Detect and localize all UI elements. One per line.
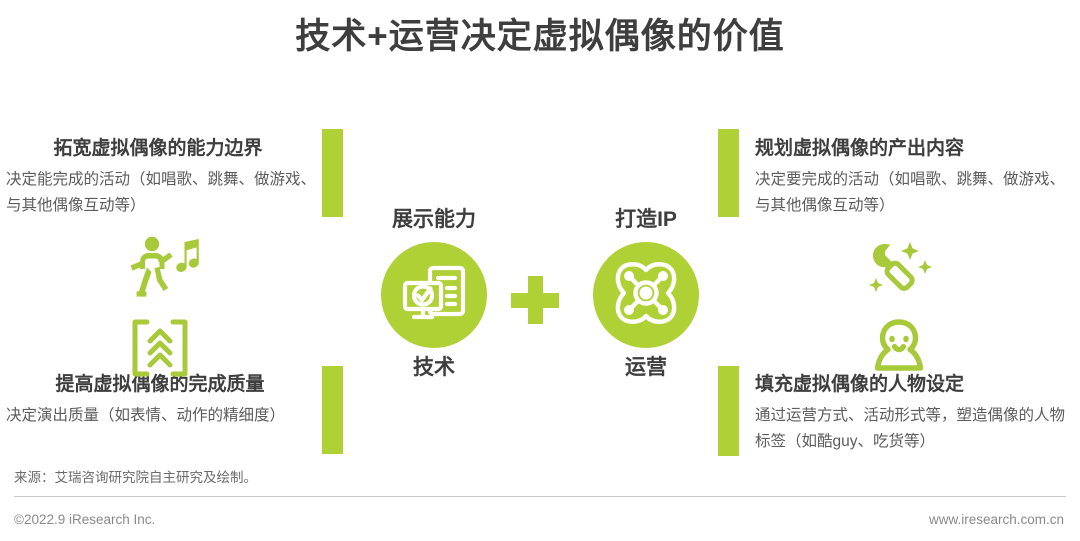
block-bottom-right-body: 通过运营方式、活动形式等，塑造偶像的人物标签（如酷guy、吃货等） bbox=[755, 403, 1075, 455]
block-top-right-heading: 规划虚拟偶像的产出内容 bbox=[755, 136, 1075, 162]
source-note: 来源：艾瑞咨询研究院自主研究及绘制。 bbox=[14, 466, 257, 486]
center-technology-caption-top: 展示能力 bbox=[356, 206, 512, 234]
accent-bar-bottom-left bbox=[322, 366, 343, 454]
block-bottom-right: 填充虚拟偶像的人物设定 通过运营方式、活动形式等，塑造偶像的人物标签（如酷guy… bbox=[755, 372, 1075, 455]
plus-operator-icon bbox=[511, 276, 559, 324]
atom-icon bbox=[613, 260, 679, 331]
dancing-person-icon bbox=[128, 236, 202, 303]
monitor-check-server-icon bbox=[400, 262, 468, 329]
footer-divider bbox=[14, 496, 1066, 497]
page-title: 技术+运营决定虚拟偶像的价值 bbox=[0, 14, 1080, 60]
block-top-right: 规划虚拟偶像的产出内容 决定要完成的活动（如唱歌、跳舞、做游戏、与其他偶像互动等… bbox=[755, 136, 1075, 219]
copyright-text: ©2022.9 iResearch Inc. bbox=[14, 512, 155, 527]
block-top-left: 拓宽虚拟偶像的能力边界 决定能完成的活动（如唱歌、跳舞、做游戏、与其他偶像互动等… bbox=[6, 136, 316, 219]
accent-bar-top-right bbox=[718, 129, 739, 217]
center-technology-caption-bottom: 技术 bbox=[356, 354, 512, 382]
smiling-person-icon bbox=[866, 314, 932, 381]
block-top-right-body: 决定要完成的活动（如唱歌、跳舞、做游戏、与其他偶像互动等） bbox=[755, 167, 1075, 219]
quality-up-arrows-icon bbox=[128, 318, 192, 383]
site-url: www.iresearch.com.cn bbox=[929, 512, 1064, 527]
center-technology: 展示能力 bbox=[356, 206, 512, 382]
center-technology-circle bbox=[381, 242, 487, 348]
center-operations-caption-bottom: 运营 bbox=[568, 354, 724, 382]
magic-wand-icon bbox=[862, 240, 934, 305]
block-bottom-left-body: 决定演出质量（如表情、动作的精细度） bbox=[6, 403, 316, 429]
accent-bar-top-left bbox=[322, 129, 343, 217]
block-top-left-heading: 拓宽虚拟偶像的能力边界 bbox=[6, 136, 316, 162]
center-operations-caption-top: 打造IP bbox=[568, 206, 724, 234]
center-operations: 打造IP bbox=[568, 206, 724, 382]
infographic-page: 技术+运营决定虚拟偶像的价值 拓宽虚拟偶像的能力边界 决定能完成的活动（如唱歌、… bbox=[0, 0, 1080, 541]
block-top-left-body: 决定能完成的活动（如唱歌、跳舞、做游戏、与其他偶像互动等） bbox=[6, 167, 316, 219]
center-operations-circle bbox=[593, 242, 699, 348]
